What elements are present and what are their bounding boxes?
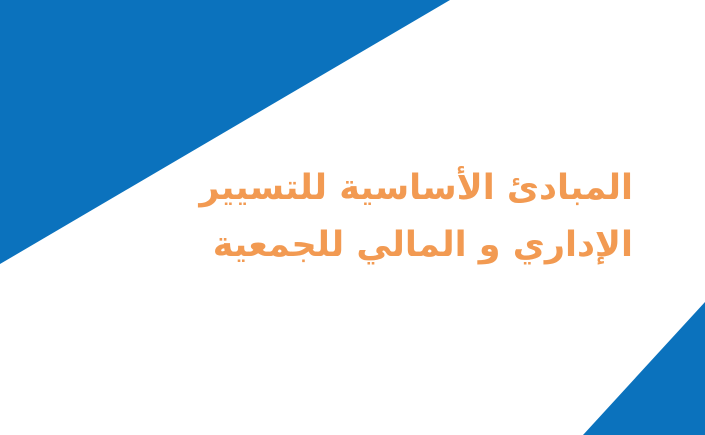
- presentation-slide: المبادئ الأساسية للتسيير الإداري و المال…: [0, 0, 705, 435]
- slide-title-line-1: المبادئ الأساسية للتسيير: [0, 160, 633, 217]
- slide-title-line-2: الإداري و المالي للجمعية: [0, 217, 633, 274]
- slide-title-block: المبادئ الأساسية للتسيير الإداري و المال…: [0, 160, 705, 273]
